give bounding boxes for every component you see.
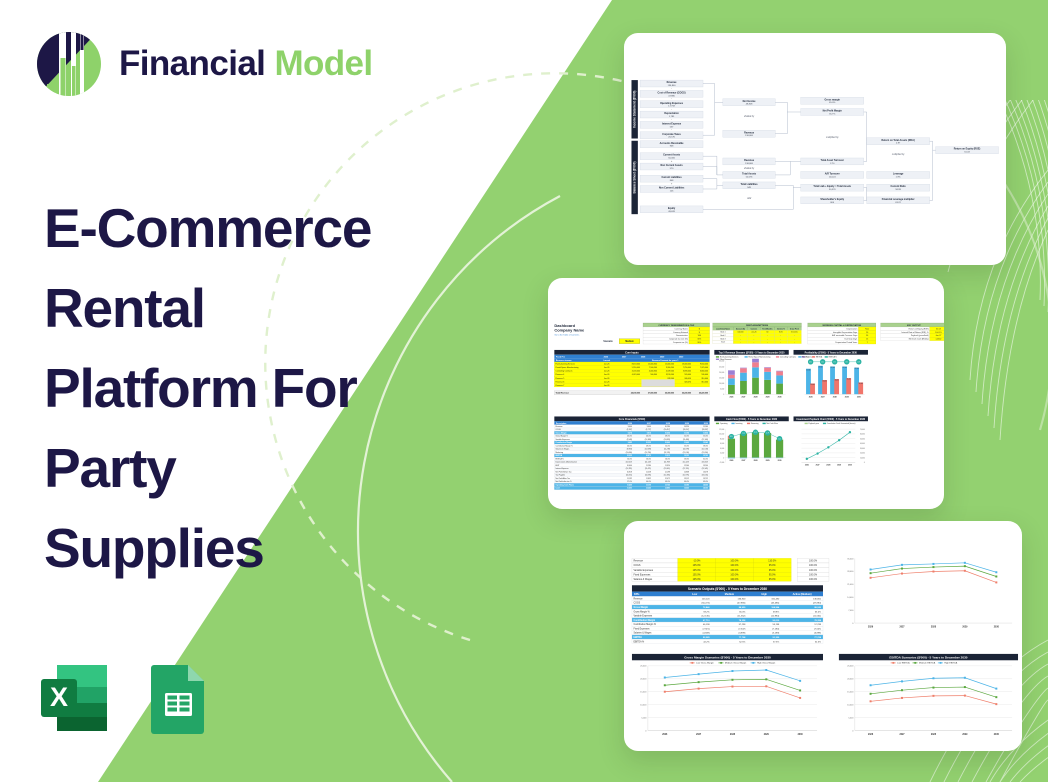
svg-text:100.0%: 100.0% (730, 560, 739, 563)
svg-text:EBITDA: EBITDA (816, 355, 823, 358)
stacked-bar-segment (752, 378, 759, 395)
svg-text:Gross Margin %: Gross Margin % (633, 611, 649, 613)
svg-text:Jan-26: Jan-26 (604, 385, 610, 387)
svg-text:(11,239): (11,239) (664, 449, 670, 451)
svg-text:Gross margin: Gross margin (825, 98, 841, 101)
google-sheets-file-icon (140, 660, 216, 736)
svg-text:78,358: 78,358 (739, 620, 746, 622)
svg-text:Fixed Fee: Fixed Fee (556, 356, 566, 358)
svg-text:100.0%: 100.0% (809, 573, 818, 576)
dupont-tree-diagram: Income Statement ($'000)Balance Sheet ($… (624, 33, 1006, 265)
svg-text:2029: 2029 (764, 734, 770, 736)
svg-text:11,194: 11,194 (684, 431, 689, 434)
svg-text:-10.0%: -10.0% (693, 560, 701, 563)
svg-text:7,250,000: 7,250,000 (683, 367, 691, 369)
svg-text:3 months: 3 months (791, 331, 798, 334)
svg-text:Total Asset Turnover: Total Asset Turnover (821, 159, 844, 162)
svg-text:69.0%: 69.0% (703, 481, 708, 483)
svg-text:Description: Description (556, 422, 567, 425)
svg-text:Rate: Rate (865, 327, 869, 330)
svg-text:(12,136): (12,136) (701, 616, 709, 618)
svg-text:2028: 2028 (826, 465, 830, 467)
svg-text:Gross Margin: Gross Margin (633, 607, 648, 609)
svg-text:4,023,000: 4,023,000 (632, 374, 640, 376)
svg-text:High Gross Margin: High Gross Margin (757, 663, 776, 665)
svg-text:21,700: 21,700 (818, 366, 822, 368)
svg-text:2027: 2027 (899, 627, 905, 629)
svg-text:11,466: 11,466 (627, 483, 632, 486)
svg-text:EBITDA: EBITDA (556, 454, 563, 457)
page-title-line-4: Supplies (44, 508, 464, 588)
svg-text:(11,562): (11,562) (737, 616, 745, 618)
svg-text:27,000,000: 27,000,000 (648, 393, 657, 395)
stacked-bar-segment (740, 368, 747, 372)
svg-text:10,965: 10,965 (665, 442, 670, 444)
svg-text:9,274: 9,274 (628, 431, 632, 434)
svg-text:2029: 2029 (962, 734, 968, 736)
svg-text:13,523: 13,523 (684, 488, 689, 490)
svg-text:(7,547): (7,547) (814, 628, 821, 630)
svg-text:9,650,000: 9,650,000 (700, 364, 708, 366)
svg-text:-: - (671, 87, 672, 90)
stacked-bar-segment (764, 367, 771, 368)
svg-text:70,000: 70,000 (860, 429, 865, 431)
svg-text:10,000: 10,000 (719, 434, 724, 436)
svg-text:55.0%: 55.0% (703, 436, 708, 438)
svg-text:63.22: 63.22 (895, 202, 901, 204)
svg-text:25,000: 25,000 (847, 666, 854, 668)
svg-text:(4,849): (4,849) (703, 633, 710, 635)
svg-text:-: - (671, 129, 672, 132)
svg-text:2030: 2030 (857, 396, 861, 398)
svg-text:3,200,000: 3,200,000 (632, 371, 640, 373)
stacked-bar-segment (764, 380, 771, 394)
svg-text:15,000: 15,000 (847, 692, 854, 694)
svg-text:0: 0 (645, 730, 647, 732)
svg-text:(10,599): (10,599) (645, 449, 652, 451)
svg-text:10,000: 10,000 (847, 705, 854, 707)
svg-text:Revenue streams: Revenue streams (556, 359, 572, 362)
svg-text:10,873: 10,873 (646, 455, 651, 457)
svg-text:Gross Margin %: Gross Margin % (556, 436, 569, 438)
svg-text:52.0%: 52.0% (665, 445, 670, 447)
svg-text:21,000: 21,000 (847, 584, 854, 586)
svg-text:(13,615): (13,615) (702, 475, 709, 477)
svg-text:2027: 2027 (899, 734, 905, 736)
svg-text:Investment Payback Chart ($'00: Investment Payback Chart ($'000) - 5 Yea… (796, 418, 865, 421)
svg-text:24,200,000: 24,200,000 (631, 392, 640, 395)
svg-text:Net Cash Flow: Net Cash Flow (766, 422, 778, 425)
svg-text:(3,189): (3,189) (772, 633, 779, 635)
svg-text:59,198: 59,198 (773, 624, 780, 626)
svg-text:Current Assets: Current Assets (663, 154, 681, 157)
svg-text:59.0%: 59.0% (684, 458, 689, 460)
svg-text:2029: 2029 (845, 396, 849, 398)
svg-text:DEBT ASSUMPTIONS: DEBT ASSUMPTIONS (746, 324, 768, 327)
svg-text:105.0%: 105.0% (693, 573, 702, 576)
svg-text:Corporate tax (%): Corporate tax (%) (673, 341, 688, 344)
svg-text:Revenue: Revenue (802, 356, 809, 358)
svg-text:Total Assets: Total Assets (742, 172, 757, 175)
svg-text:Inventory Days: Inventory Days (845, 338, 858, 341)
svg-text:58.0%: 58.0% (703, 445, 708, 447)
svg-text:KEY OUTPUT: KEY OUTPUT (907, 325, 921, 327)
svg-text:2027: 2027 (742, 460, 746, 462)
svg-text:2026: 2026 (805, 465, 809, 467)
svg-text:Net Profit after tax %: Net Profit after tax % (556, 480, 572, 483)
svg-text:Variable Expenses: Variable Expenses (633, 616, 653, 618)
svg-text:Internal Rate of Return (IRR),: Internal Rate of Return (IRR), % (902, 331, 929, 334)
svg-text:Interest Expense: Interest Expense (662, 122, 682, 125)
svg-text:25,000: 25,000 (719, 366, 724, 368)
svg-text:Gross Margin: Gross Margin (556, 432, 567, 434)
svg-text:1.9%: 1.9% (896, 176, 901, 178)
svg-text:100.0%: 100.0% (809, 564, 818, 567)
svg-text:5,000: 5,000 (720, 388, 724, 390)
svg-text:2029: 2029 (962, 627, 968, 629)
svg-text:2028: 2028 (730, 734, 736, 736)
svg-text:13,752: 13,752 (703, 478, 708, 480)
svg-text:High EBITDA: High EBITDA (944, 662, 957, 665)
svg-text:61.03: 61.03 (936, 328, 941, 330)
svg-text:57.0%: 57.0% (627, 481, 632, 483)
svg-text:Cash: Cash (556, 488, 560, 490)
svg-text:Operating: Operating (720, 422, 728, 425)
svg-text:88,920: 88,920 (739, 607, 746, 609)
svg-text:Net Profit After Tax: Net Profit After Tax (556, 477, 571, 480)
svg-text:15,000: 15,000 (719, 377, 724, 379)
svg-text:57,298: 57,298 (739, 624, 746, 626)
svg-text:136,800: 136,800 (745, 135, 754, 137)
svg-text:4,000,300: 4,000,300 (649, 371, 657, 373)
svg-text:42.2%: 42.2% (703, 641, 709, 643)
stacked-bar-segment (776, 371, 783, 375)
svg-text:(9,548): (9,548) (627, 439, 633, 441)
svg-text:(12,519): (12,519) (702, 449, 709, 451)
svg-text:46,198: 46,198 (703, 624, 710, 626)
series-line (665, 679, 800, 690)
svg-text:Variable Expenses: Variable Expenses (556, 439, 570, 441)
svg-text:12,106: 12,106 (646, 484, 651, 486)
svg-text:Payback year: Payback year (809, 423, 820, 425)
stacked-bar-segment (728, 370, 735, 374)
svg-text:(7,180): (7,180) (772, 628, 779, 630)
svg-text:Medium Gross Margin: Medium Gross Margin (725, 663, 747, 665)
svg-text:divided by: divided by (744, 168, 755, 170)
svg-text:50,000: 50,000 (860, 438, 865, 440)
svg-text:13,000: 13,000 (823, 381, 827, 383)
svg-text:Medium: Medium (725, 593, 735, 596)
svg-text:144.24: 144.24 (829, 176, 836, 178)
svg-text:11,284: 11,284 (646, 465, 651, 467)
svg-text:26,230,000: 26,230,000 (682, 393, 691, 395)
svg-text:(11,787): (11,787) (664, 462, 670, 464)
svg-text:3,190,100: 3,190,100 (666, 374, 674, 376)
svg-text:2029: 2029 (766, 396, 770, 398)
svg-text:2026: 2026 (868, 734, 874, 736)
svg-text:(12,335): (12,335) (664, 475, 671, 477)
svg-text:320,070: 320,070 (684, 381, 691, 383)
svg-text:(9,959): (9,959) (627, 449, 633, 451)
svg-text:2027: 2027 (742, 396, 746, 398)
svg-text:Net Profit Before Tax: Net Profit Before Tax (556, 470, 572, 473)
svg-text:-: - (671, 98, 672, 101)
svg-text:0: 0 (723, 457, 724, 459)
svg-text:(10,507): (10,507) (626, 462, 633, 464)
stacked-bar-segment (728, 385, 735, 394)
svg-text:105.0%: 105.0% (693, 569, 702, 572)
svg-text:65.0%: 65.0% (829, 102, 835, 104)
svg-text:Non Current Assets: Non Current Assets (660, 164, 683, 167)
svg-text:Jan-27: Jan-27 (936, 335, 942, 337)
page-title-line-2: Platform For (44, 348, 464, 428)
svg-text:Depreciation: Depreciation (847, 327, 858, 330)
svg-text:Cost of Revenue (COGS): Cost of Revenue (COGS) (658, 91, 686, 94)
svg-text:Revenue 4: Revenue 4 (556, 374, 565, 376)
svg-text:Grace Perd: Grace Perd (790, 328, 799, 330)
svg-text:65.0%: 65.0% (739, 611, 745, 613)
svg-text:+: + (671, 160, 673, 163)
svg-text:Corporate Taxes: Corporate Taxes (662, 133, 681, 136)
svg-text:Marketing: Marketing (556, 451, 564, 454)
svg-text:2026: 2026 (662, 734, 668, 736)
svg-text:2029: 2029 (766, 460, 770, 462)
svg-text:Salaries & Wages: Salaries & Wages (556, 449, 570, 451)
svg-text:91,330: 91,330 (773, 637, 780, 639)
svg-text:(11,421): (11,421) (645, 468, 651, 470)
svg-text:(9,137): (9,137) (627, 429, 633, 431)
svg-text:2028: 2028 (833, 396, 837, 398)
svg-text:28,000: 28,000 (847, 571, 854, 573)
svg-text:7,370,000: 7,370,000 (700, 367, 708, 369)
svg-text:Variable Expenses: Variable Expenses (633, 569, 653, 572)
svg-text:10,000: 10,000 (719, 383, 724, 385)
svg-text:Return on Equity (ROE): Return on Equity (ROE) (909, 327, 929, 330)
stacked-bar-segment (764, 368, 771, 372)
svg-text:(10,828): (10,828) (664, 439, 671, 441)
svg-text:-: - (671, 118, 672, 121)
svg-text:49,628: 49,628 (668, 211, 675, 213)
svg-text:Total Liabilities: Total Liabilities (741, 183, 759, 186)
svg-text:Scenario: Scenario (603, 341, 613, 343)
svg-text:2030: 2030 (994, 734, 1000, 736)
svg-text:100.0%: 100.0% (809, 569, 818, 572)
svg-text:Cumulative Cash Generated (los: Cumulative Cash Generated (losses) (827, 422, 856, 425)
svg-text:13,112: 13,112 (684, 478, 689, 480)
svg-text:EBITDA Scenarios ($'000) - 5 Y: EBITDA Scenarios ($'000) - 5 Years to De… (889, 655, 967, 659)
svg-text:12,883: 12,883 (665, 488, 670, 490)
svg-text:9,640: 9,640 (647, 426, 651, 428)
svg-text:20,000: 20,000 (719, 372, 724, 374)
svg-text:High: High (762, 593, 768, 596)
svg-text:(11,468): (11,468) (683, 439, 689, 441)
svg-text:2026: 2026 (868, 627, 874, 629)
svg-text:(10,417): (10,417) (664, 429, 671, 431)
svg-text:(12,427): (12,427) (683, 462, 690, 464)
svg-text:2026: 2026 (729, 396, 733, 398)
svg-text:Active (Medium): Active (Medium) (793, 593, 812, 596)
svg-text:Gross Margin Scenarios ($'000): Gross Margin Scenarios ($'000) - 5 Years… (684, 655, 771, 659)
svg-text:2030: 2030 (848, 465, 852, 467)
svg-text:9,685: 9,685 (628, 442, 632, 444)
svg-text:10,233: 10,233 (627, 455, 632, 457)
svg-text:14,000: 14,000 (847, 597, 854, 599)
svg-text:10,000: 10,000 (640, 705, 647, 707)
svg-text:Medium EBITDA: Medium EBITDA (919, 662, 936, 665)
svg-text:25,220,000: 25,220,000 (699, 393, 708, 395)
left-content-column: Financial Model E-CommerceRentalPlatform… (0, 0, 470, 782)
svg-text:2028: 2028 (754, 460, 758, 462)
svg-text:Jan-26: Jan-26 (604, 378, 610, 380)
svg-text:Fixed Expenses: Fixed Expenses (633, 628, 650, 630)
svg-text:100.0%: 100.0% (730, 578, 739, 581)
svg-text:EBITDA %: EBITDA % (556, 457, 565, 460)
svg-text:15,000,100: 15,000,100 (665, 364, 674, 366)
svg-text:12,746: 12,746 (665, 483, 670, 486)
svg-text:2029: 2029 (837, 465, 841, 467)
svg-text:52.5%: 52.5% (815, 641, 821, 643)
svg-text:EBITDA: EBITDA (633, 636, 642, 639)
svg-text:X: X (50, 682, 68, 712)
svg-text:Revenue: Revenue (633, 598, 643, 600)
svg-text:8.0k: 8.0k (778, 438, 781, 440)
svg-text:20,000: 20,000 (847, 679, 854, 681)
svg-text:Consulting Contracts: Consulting Contracts (780, 355, 796, 358)
svg-text:20,576: 20,576 (668, 137, 675, 139)
svg-text:12,564: 12,564 (684, 465, 689, 467)
svg-text:21,700: 21,700 (843, 367, 847, 369)
svg-text:Go to the Table of Contents: Go to the Table of Contents (554, 334, 579, 337)
svg-text:78,358: 78,358 (814, 620, 821, 622)
svg-text:Scenario Outputs ($'000) - 5 Y: Scenario Outputs ($'000) - 5 Years to De… (688, 587, 767, 591)
svg-text:Commit.: Commit. (751, 327, 758, 330)
brand-name-primary: Financial (119, 44, 265, 83)
svg-text:150,480: 150,480 (771, 598, 780, 600)
svg-text:72,846: 72,846 (703, 606, 710, 609)
svg-text:15,000: 15,000 (640, 692, 647, 694)
svg-text:Event planning Services: Event planning Services (720, 355, 739, 358)
svg-text:60,000: 60,000 (860, 434, 865, 436)
svg-text:2,000: 2,000 (720, 453, 724, 455)
svg-text:10,918: 10,918 (627, 471, 632, 473)
svg-text:Salaries & Wages: Salaries & Wages (633, 578, 653, 581)
svg-text:49.0%: 49.0% (646, 445, 651, 447)
svg-text:Total Revenue: Total Revenue (556, 392, 570, 395)
svg-text:(47,880): (47,880) (813, 603, 821, 605)
svg-text:5,000: 5,000 (641, 717, 647, 719)
file-format-badges: X (36, 660, 216, 736)
svg-text:Shareholder's Equity: Shareholder's Equity (820, 198, 844, 201)
svg-text:7,000: 7,000 (848, 610, 854, 612)
svg-text:100.0%: 100.0% (809, 560, 818, 563)
svg-text:15: 15 (866, 339, 868, 341)
svg-text:(11,879): (11,879) (683, 449, 689, 451)
excel-file-icon: X (36, 660, 112, 736)
svg-text:Low Gross Margin: Low Gross Margin (696, 663, 714, 665)
svg-text:52.0%: 52.0% (684, 436, 689, 438)
svg-text:0: 0 (864, 462, 865, 464)
svg-text:(13,067): (13,067) (702, 462, 709, 464)
svg-text:520,000: 520,000 (684, 374, 691, 376)
financial-dashboard-card[interactable]: DashboardCompany NameGo to the Table of … (548, 278, 944, 509)
svg-text:Company Name: Company Name (554, 328, 585, 333)
svg-text:A/R Turnover: A/R Turnover (825, 172, 840, 175)
svg-text:Corporate tax rate (%): Corporate tax rate (%) (669, 338, 688, 341)
svg-text:77,708: 77,708 (739, 637, 746, 639)
svg-text:13,000: 13,000 (835, 380, 839, 382)
svg-text:9,300,200: 9,300,200 (666, 367, 674, 369)
svg-text:Salaries & Wages: Salaries & Wages (633, 633, 652, 635)
stacked-bar-segment (776, 384, 783, 395)
svg-text:310,000: 310,000 (701, 381, 708, 383)
svg-text:(11,057): (11,057) (683, 429, 689, 431)
svg-text:12,838: 12,838 (684, 471, 689, 473)
svg-text:9,914: 9,914 (647, 431, 651, 434)
svg-text:Investing: Investing (735, 422, 742, 425)
svg-text:Bank 2: Bank 2 (720, 335, 725, 337)
svg-text:14,026: 14,026 (703, 483, 708, 486)
svg-text:Leverage: Leverage (893, 172, 904, 175)
svg-text:11,192: 11,192 (627, 478, 632, 480)
svg-text:35.7%: 35.7% (829, 113, 835, 115)
svg-text:66.0%: 66.0% (684, 481, 689, 483)
svg-text:25,000: 25,000 (640, 666, 647, 668)
svg-text:11,924: 11,924 (665, 465, 670, 467)
svg-text:Revenue 5: Revenue 5 (556, 378, 565, 380)
svg-text:21,700: 21,700 (831, 367, 835, 369)
svg-text:7: 7 (867, 342, 868, 344)
svg-text:Contribution Margin %: Contribution Margin % (633, 623, 655, 626)
svg-text:Revenue Forecast for years 1: Revenue Forecast for years 1 (652, 359, 678, 362)
svg-text:100,000: 100,000 (737, 332, 743, 334)
stacked-bar-segment (740, 368, 747, 369)
svg-text:59.2%: 59.2% (703, 611, 709, 613)
svg-text:Depreciation: Depreciation (664, 112, 679, 115)
svg-text:8,453,000: 8,453,000 (632, 364, 640, 366)
svg-text:35,000: 35,000 (847, 558, 854, 560)
svg-text:Currency Name: Currency Name (675, 327, 688, 330)
svg-text:95.0%: 95.0% (769, 569, 777, 572)
svg-text:Grant: Grant (721, 341, 726, 344)
svg-text:(11,376): (11,376) (664, 452, 670, 454)
svg-text:Revenue: Revenue (744, 131, 755, 134)
svg-text:Loan/Grant Name: Loan/Grant Name (716, 327, 730, 330)
svg-text:Equity: Equity (668, 207, 676, 210)
page-title-line-1: Rental (44, 268, 464, 348)
svg-text:Financial Leverage multiplier: Financial Leverage multiplier (882, 198, 915, 201)
dupont-analysis-card[interactable]: Income Statement ($'000)Balance Sheet ($… (624, 33, 1006, 265)
svg-text:13,204: 13,204 (703, 465, 708, 467)
scenario-analysis-card[interactable]: Revenue-10.0%100.0%110.0%100.0%COGS105.0… (624, 521, 1022, 751)
svg-text:69.8%: 69.8% (773, 611, 779, 613)
svg-text:4,000: 4,000 (720, 448, 724, 450)
svg-text:0: 0 (723, 394, 724, 396)
svg-text:0: 0 (852, 623, 854, 625)
svg-text:(7,921): (7,921) (703, 628, 710, 630)
svg-text:63.0%: 63.0% (665, 481, 670, 483)
svg-text:123,120: 123,120 (702, 598, 711, 600)
svg-text:multiplied by: multiplied by (892, 153, 905, 156)
svg-text:58.99: 58.99 (895, 189, 901, 191)
svg-text:Intangible Depreciation Days: Intangible Depreciation Days (833, 331, 857, 334)
svg-text:Return on Equity (ROE): Return on Equity (ROE) (954, 148, 981, 151)
svg-text:57,298: 57,298 (814, 624, 821, 626)
svg-text:Interest %: Interest % (777, 327, 785, 330)
svg-text:65.0%: 65.0% (815, 611, 821, 613)
svg-text:Contribution Margin: Contribution Margin (556, 441, 573, 444)
svg-text:30: 30 (866, 335, 868, 337)
series-line (871, 571, 997, 583)
